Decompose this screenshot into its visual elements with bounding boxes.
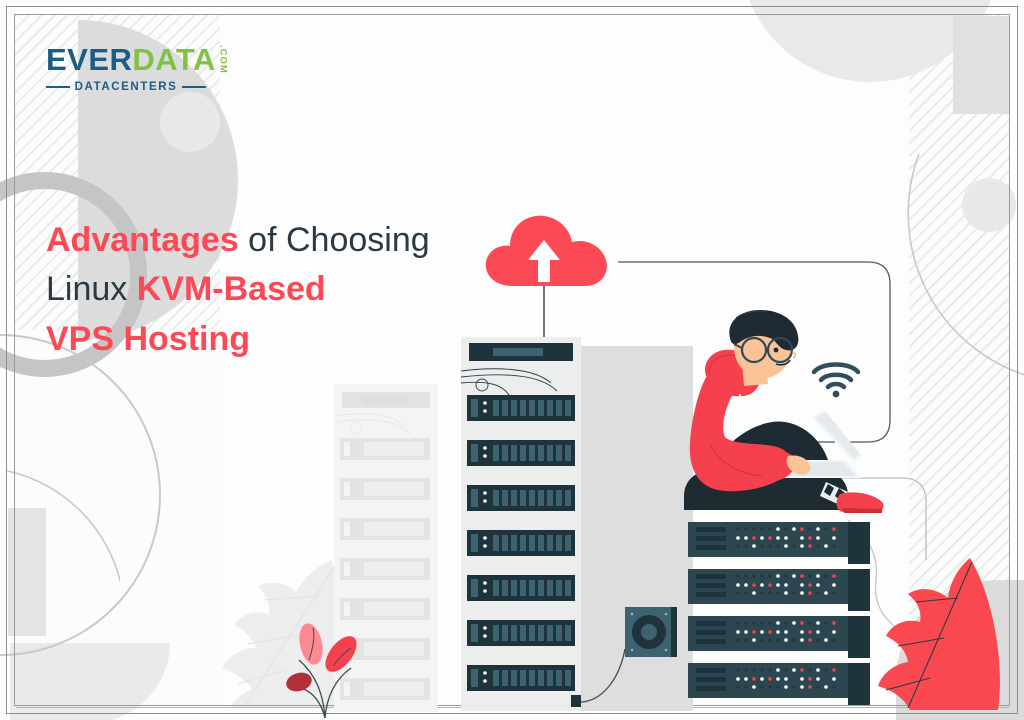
- server-rack-right[interactable]: [688, 520, 898, 712]
- plant-decoration-small: [285, 610, 365, 720]
- server-rack-main[interactable]: [455, 337, 695, 712]
- wifi-icon: [810, 356, 862, 398]
- cloud-upload-icon[interactable]: [484, 212, 619, 290]
- poster-canvas: EVER DATA .COM DATACENTERS Advantages of…: [0, 0, 1024, 720]
- leaf-decoration-red: [878, 552, 1008, 717]
- cooling-fan-icon: [625, 607, 677, 657]
- developer-with-laptop-illustration: [676, 310, 896, 535]
